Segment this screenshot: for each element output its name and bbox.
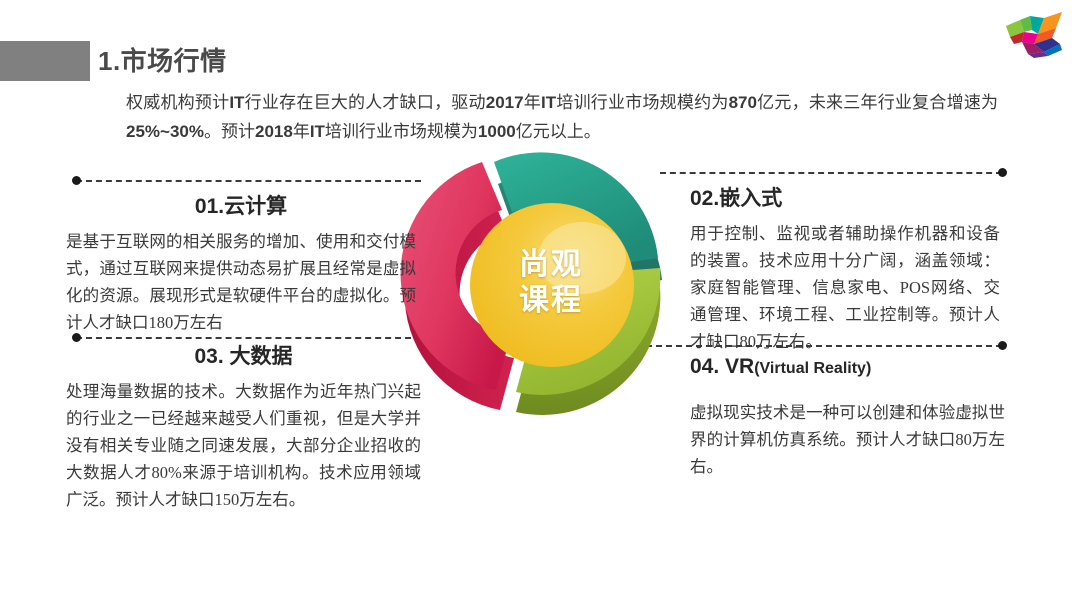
topic-block-cloud-computing: 01.云计算 是基于互联网的相关服务的增加、使用和交付模式，通过互联网来提供动态… (66, 190, 416, 336)
intro-text-h: 年 (293, 122, 310, 141)
donut-svg (400, 150, 680, 415)
intro-em-it-3: IT (310, 122, 325, 141)
connector-dot-02 (998, 168, 1007, 177)
logo-svg (1004, 4, 1072, 60)
intro-em-growth: 25%~30% (126, 122, 204, 141)
intro-em-it-2: IT (541, 93, 556, 112)
intro-text-d: 年 (524, 93, 541, 112)
block-title-04-main: 04. VR (690, 355, 754, 378)
intro-em-2017: 2017 (486, 93, 524, 112)
course-donut-diagram (400, 150, 680, 415)
intro-text-a: 权威机构预计 (126, 93, 229, 112)
topic-block-big-data: 03. 大数据 处理海量数据的技术。大数据作为近年热门兴起的行业之一已经越来越受… (66, 340, 421, 513)
intro-em-it-1: IT (229, 93, 244, 112)
connector-line-02 (660, 172, 1002, 174)
block-title-03: 03. 大数据 (66, 340, 421, 370)
intro-em-2018: 2018 (255, 122, 293, 141)
connector-line-01 (76, 180, 421, 182)
block-title-01: 01.云计算 (66, 190, 416, 220)
topic-block-embedded: 02.嵌入式 用于控制、监视或者辅助操作机器和设备的装置。技术应用十分广阔，涵盖… (690, 182, 1000, 355)
intro-paragraph: 权威机构预计IT行业存在巨大的人才缺口，驱动2017年IT培训行业市场规模约为8… (126, 88, 998, 146)
intro-text-c: 行业存在巨大的人才缺口，驱动 (244, 93, 485, 112)
intro-em-870: 870 (729, 93, 757, 112)
block-body-03: 处理海量数据的技术。大数据作为近年热门兴起的行业之一已经越来越受人们重视，但是大… (66, 378, 421, 513)
intro-em-1000: 1000 (478, 122, 516, 141)
intro-text-i: 培训行业市场规模为 (325, 122, 478, 141)
connector-line-03 (76, 337, 431, 339)
block-body-01: 是基于互联网的相关服务的增加、使用和交付模式，通过互联网来提供动态易扩展且经常是… (66, 228, 416, 336)
intro-text-f: 亿元，未来三年行业复合增速为 (757, 93, 998, 112)
block-body-02: 用于控制、监视或者辅助操作机器和设备的装置。技术应用十分广阔，涵盖领域：家庭智能… (690, 220, 1000, 355)
topic-block-vr: 04. VR(Virtual Reality) 虚拟现实技术是一种可以创建和体验… (690, 355, 1005, 480)
page-title: 1.市场行情 (98, 42, 227, 80)
connector-dot-01 (72, 176, 81, 185)
block-body-04: 虚拟现实技术是一种可以创建和体验虚拟世界的计算机仿真系统。预计人才缺口80万左右… (690, 399, 1005, 480)
title-accent-block (0, 41, 90, 81)
block-title-04-sub: (Virtual Reality) (754, 360, 871, 377)
origami-bird-logo (1004, 4, 1072, 60)
intro-text-j: 亿元以上。 (516, 122, 601, 141)
block-title-02: 02.嵌入式 (690, 182, 1000, 212)
block-title-04: 04. VR(Virtual Reality) (690, 355, 1005, 379)
intro-text-e: 培训行业市场规模约为 (556, 93, 728, 112)
intro-text-g: 。预计 (204, 122, 255, 141)
